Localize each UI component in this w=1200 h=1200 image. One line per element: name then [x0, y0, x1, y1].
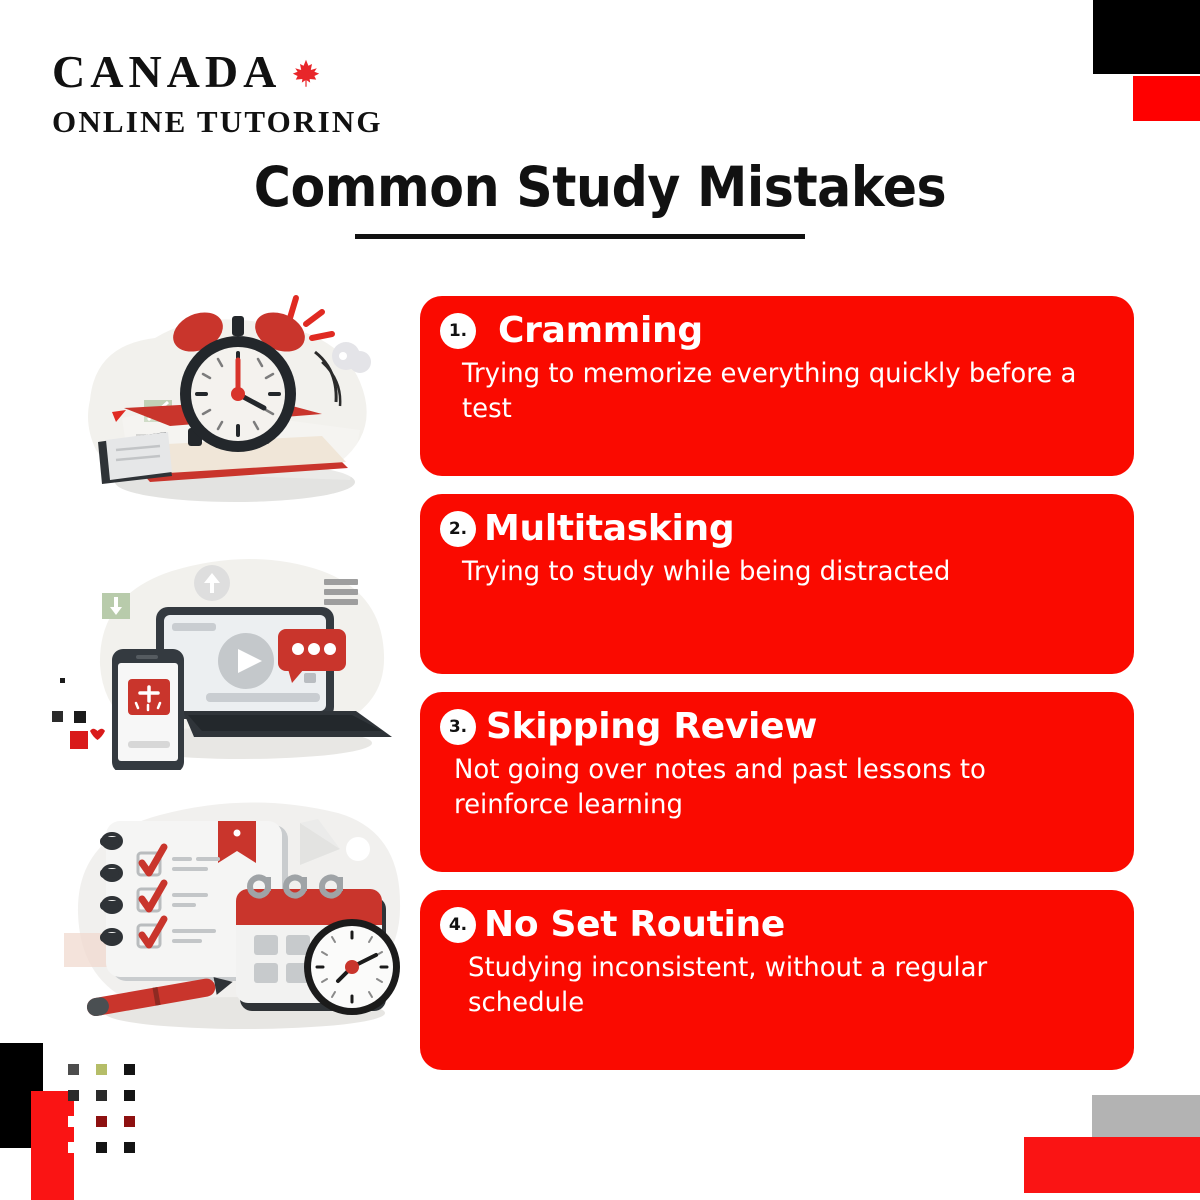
card-title: No Set Routine: [484, 904, 785, 945]
card-title: Cramming: [498, 310, 703, 351]
decoration-bottom-right-red: [1024, 1137, 1200, 1193]
card-description: Not going over notes and past lessons to…: [454, 753, 1082, 822]
brand-name-canada: CANADA: [52, 49, 281, 95]
laptop-phone-video-illustration: [52, 545, 422, 770]
decoration-dot: [68, 1116, 79, 1127]
card-number-badge: 4.: [440, 907, 476, 943]
page-title: Common Study Mistakes: [48, 155, 1152, 219]
brand-name-line2: ONLINE TUTORING: [52, 106, 392, 137]
decoration-dot: [68, 1064, 79, 1075]
card-title: Skipping Review: [486, 706, 817, 747]
decoration-dot: [68, 1142, 79, 1153]
brand-logo: CANADA ONLINE TUTORING: [52, 48, 392, 137]
card-title: Multitasking: [484, 508, 734, 549]
decoration-dot: [124, 1116, 135, 1127]
card-number-badge: 2.: [440, 511, 476, 547]
alarm-clock-on-books-illustration: [60, 290, 410, 515]
decoration-dot: [124, 1064, 135, 1075]
decoration-dot: [68, 1090, 79, 1101]
title-underline-rule: [355, 234, 805, 239]
card-header: 3. Skipping Review: [440, 706, 1108, 747]
card-description: Trying to memorize everything quickly be…: [462, 357, 1082, 426]
decoration-dot: [124, 1090, 135, 1101]
card-header: 1. Cramming: [440, 310, 1108, 351]
card-number-badge: 3.: [440, 709, 476, 745]
mistake-card-2[interactable]: 2. Multitasking Trying to study while be…: [420, 494, 1134, 674]
decoration-top-right-black: [1093, 0, 1200, 74]
card-header: 2. Multitasking: [440, 508, 1108, 549]
mistake-cards-list: 1. Cramming Trying to memorize everythin…: [420, 296, 1134, 1088]
decoration-dot: [96, 1064, 107, 1075]
mistake-card-1[interactable]: 1. Cramming Trying to memorize everythin…: [420, 296, 1134, 476]
card-description: Trying to study while being distracted: [462, 555, 1082, 590]
card-number-badge: 1.: [440, 313, 476, 349]
mistake-card-3[interactable]: 3. Skipping Review Not going over notes …: [420, 692, 1134, 872]
maple-leaf-icon: [291, 50, 321, 96]
decoration-dot: [96, 1090, 107, 1101]
decoration-dot: [96, 1116, 107, 1127]
decoration-top-right-red: [1133, 76, 1200, 121]
checklist-calendar-clock-illustration: [50, 785, 425, 1040]
mistake-card-4[interactable]: 4. No Set Routine Studying inconsistent,…: [420, 890, 1134, 1070]
card-header: 4. No Set Routine: [440, 904, 1108, 945]
decoration-dot: [96, 1142, 107, 1153]
decoration-dot-grid: [68, 1064, 152, 1168]
decoration-dot: [124, 1142, 135, 1153]
card-description: Studying inconsistent, without a regular…: [468, 951, 1082, 1020]
brand-name-line1: CANADA: [52, 48, 392, 96]
